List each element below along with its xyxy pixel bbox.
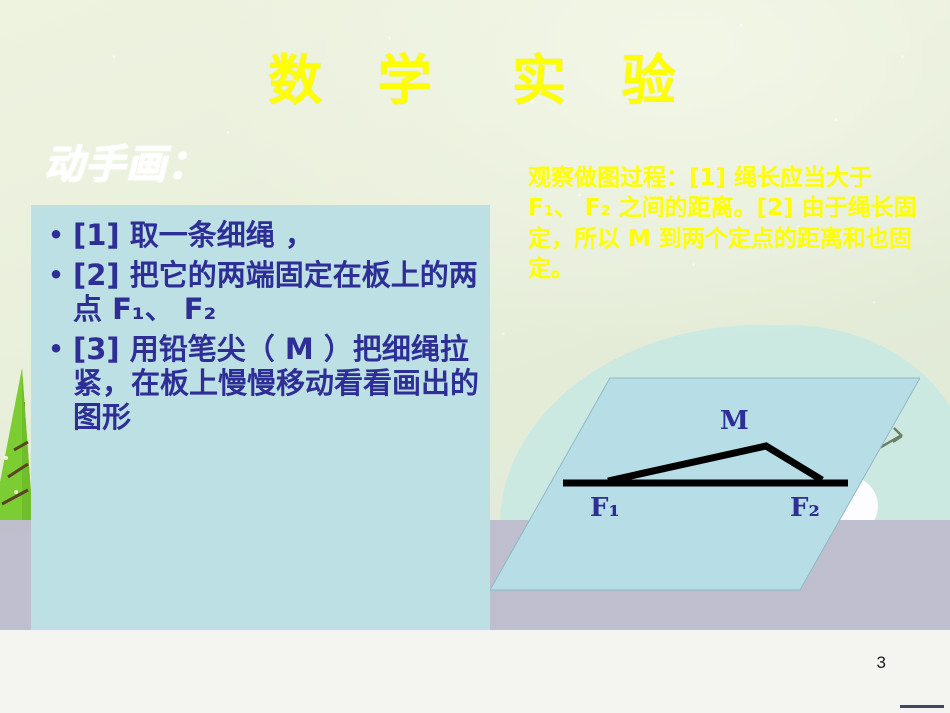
slide-canvas: 数 学 实 验 动手画： • [1] 取一条细绳 ， • [2] 把它的两端固定… bbox=[0, 0, 950, 630]
page-title: 数 学 实 验 bbox=[0, 36, 950, 115]
step-text: [3] 用铅笔尖（ M ）把细绳拉紧，在板上慢慢移动看看画出的图形 bbox=[73, 333, 480, 435]
list-item: • [2] 把它的两端固定在板上的两点 F₁、 F₂ bbox=[39, 259, 480, 327]
section-subtitle: 动手画： bbox=[44, 132, 208, 190]
step-text: [2] 把它的两端固定在板上的两点 F₁、 F₂ bbox=[73, 259, 480, 327]
slide-page: 数 学 实 验 动手画： • [1] 取一条细绳 ， • [2] 把它的两端固定… bbox=[0, 0, 950, 713]
list-item: • [3] 用铅笔尖（ M ）把细绳拉紧，在板上慢慢移动看看画出的图形 bbox=[39, 333, 480, 435]
bullet-icon: • bbox=[39, 219, 73, 251]
page-number: 3 bbox=[877, 653, 886, 673]
steps-content-box: • [1] 取一条细绳 ， • [2] 把它的两端固定在板上的两点 F₁、 F₂… bbox=[31, 205, 490, 630]
step-text: [1] 取一条细绳 ， bbox=[73, 219, 480, 253]
list-item: • [1] 取一条细绳 ， bbox=[39, 219, 480, 253]
diagram-canvas bbox=[490, 368, 920, 600]
bullet-icon: • bbox=[39, 333, 73, 365]
label-M: M bbox=[720, 406, 749, 436]
bullet-icon: • bbox=[39, 259, 73, 291]
observation-note: 观察做图过程：[1] 绳长应当大于 F₁、 F₂ 之间的距离。[2] 由于绳长固… bbox=[528, 163, 928, 284]
label-F1: F₁ bbox=[590, 493, 620, 523]
corner-mark bbox=[900, 705, 944, 708]
label-F2: F₂ bbox=[790, 493, 820, 523]
string-construction-diagram: M F₁ F₂ bbox=[490, 368, 920, 600]
